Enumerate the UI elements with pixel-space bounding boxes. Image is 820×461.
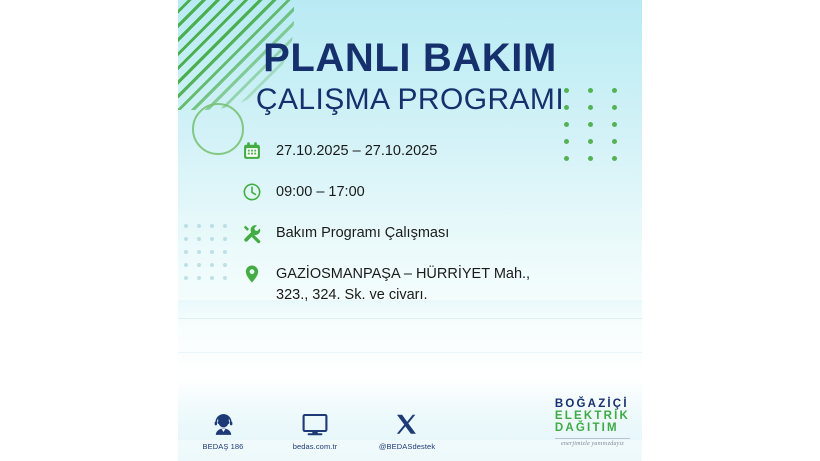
info-row-time: 09:00 – 17:00 (240, 180, 620, 204)
tools-icon (240, 221, 264, 245)
brand-line-3: DAĞITIM (555, 423, 630, 435)
screenshot-root: PLANLI BAKIM ÇALIŞMA PROGRAMI (0, 0, 820, 461)
contact-label-website: bedas.com.tr (282, 442, 348, 451)
info-row-location: GAZİOSMANPAŞA – HÜRRİYET Mah., 323., 324… (240, 262, 620, 305)
info-row-worktype: Bakım Programı Çalışması (240, 221, 620, 245)
info-text-location: GAZİOSMANPAŞA – HÜRRİYET Mah., 323., 324… (276, 262, 530, 305)
info-location-line-2: 323., 324. Sk. ve civarı. (276, 285, 530, 306)
info-text-time: 09:00 – 17:00 (276, 180, 365, 203)
info-row-date: 27.10.2025 – 27.10.2025 (240, 139, 620, 163)
contact-call-center[interactable]: BEDAŞ 186 (190, 409, 256, 451)
dot-grid-decoration-left (184, 224, 236, 289)
background-band-line-2 (178, 352, 642, 353)
contact-website[interactable]: bedas.com.tr (282, 409, 348, 451)
monitor-icon (282, 409, 348, 437)
contact-list: BEDAŞ 186 bedas.com.tr (190, 409, 440, 451)
clock-icon (240, 180, 264, 204)
page-title: PLANLI BAKIM ÇALIŞMA PROGRAMI (178, 38, 642, 115)
call-center-agent-icon (190, 409, 256, 437)
brand-tagline: enerjimizle yanınızdayız (555, 438, 630, 447)
info-date-value: 27.10.2025 – 27.10.2025 (276, 143, 437, 159)
calendar-icon (240, 139, 264, 163)
info-text-worktype: Bakım Programı Çalışması (276, 221, 449, 244)
title-main: PLANLI BAKIM (178, 38, 642, 78)
contact-label-x-twitter: @BEDASdestek (374, 442, 440, 451)
brand-logo: BOĞAZİÇİ ELEKTRİK DAĞITIM enerjimizle ya… (555, 399, 630, 447)
location-pin-icon (240, 262, 264, 286)
title-subtitle: ÇALIŞMA PROGRAMI (178, 85, 642, 115)
maintenance-notice-poster: PLANLI BAKIM ÇALIŞMA PROGRAMI (178, 0, 642, 461)
info-text-date: 27.10.2025 – 27.10.2025 (276, 139, 437, 162)
x-twitter-icon (374, 409, 440, 437)
contact-x-twitter[interactable]: @BEDASdestek (374, 409, 440, 451)
info-worktype-value: Bakım Programı Çalışması (276, 225, 449, 241)
info-list: 27.10.2025 – 27.10.2025 09:00 – 17:00 (240, 139, 620, 322)
info-time-value: 09:00 – 17:00 (276, 184, 365, 200)
contact-label-call-center: BEDAŞ 186 (190, 442, 256, 451)
poster-footer: BEDAŞ 186 bedas.com.tr (178, 395, 642, 453)
info-location-line-1: GAZİOSMANPAŞA – HÜRRİYET Mah., (276, 266, 530, 282)
